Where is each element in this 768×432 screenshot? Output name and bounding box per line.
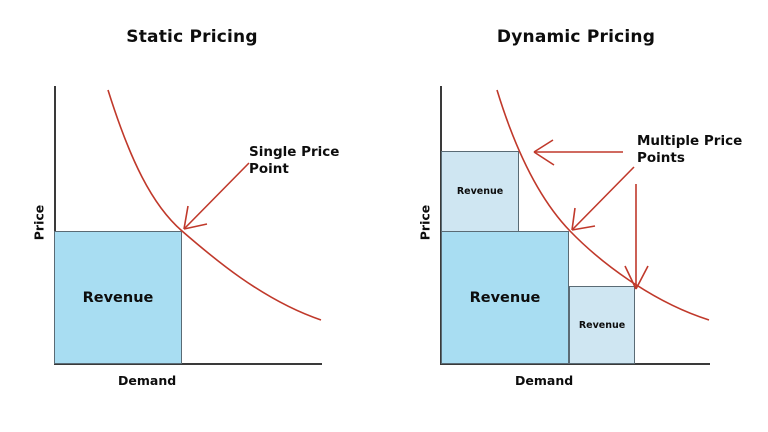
x-axis-label-dynamic: Demand bbox=[515, 373, 573, 388]
callout-multiple-price-points: Multiple Price Points bbox=[637, 133, 768, 168]
revenue-box-dynamic-main: Revenue bbox=[441, 231, 569, 364]
revenue-box-static: Revenue bbox=[54, 231, 182, 364]
revenue-box-label: Revenue bbox=[579, 320, 625, 331]
revenue-box-label: Revenue bbox=[83, 290, 154, 306]
figure-canvas: Static Pricing Price Demand Revenue Sing… bbox=[0, 0, 768, 432]
y-axis-label-static: Price bbox=[32, 193, 47, 253]
revenue-box-label: Revenue bbox=[457, 186, 503, 197]
revenue-box-label: Revenue bbox=[470, 290, 541, 306]
callout-single-price-point: Single Price Point bbox=[249, 144, 374, 179]
revenue-box-dynamic-right: Revenue bbox=[569, 286, 635, 364]
panel-static-pricing: Static Pricing bbox=[0, 0, 384, 432]
revenue-box-dynamic-top: Revenue bbox=[441, 151, 519, 232]
panel-title-static: Static Pricing bbox=[0, 27, 384, 47]
panel-title-dynamic: Dynamic Pricing bbox=[384, 27, 768, 47]
y-axis-label-dynamic: Price bbox=[418, 193, 433, 253]
x-axis-label-static: Demand bbox=[118, 373, 176, 388]
